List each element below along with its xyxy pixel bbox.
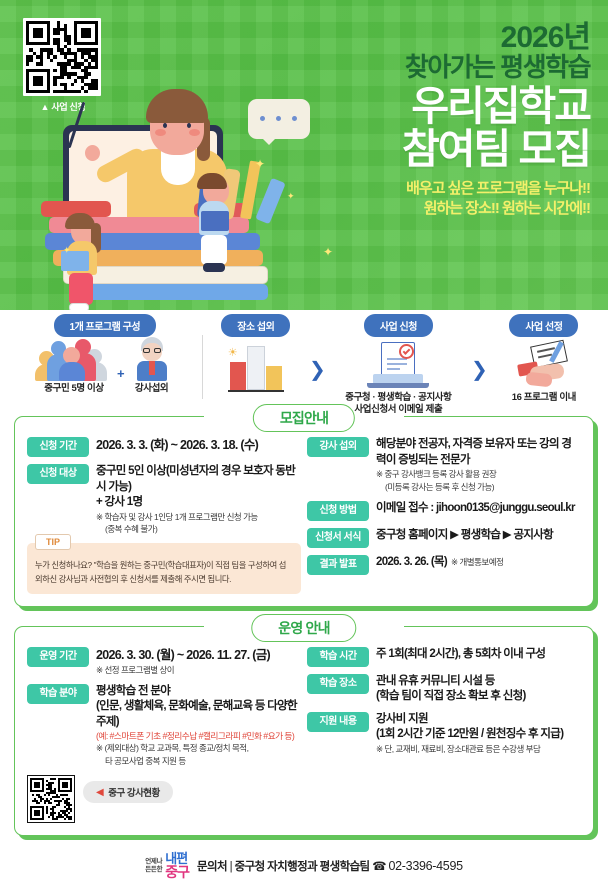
- kid-girl-reading: [67, 217, 97, 245]
- footer-contact: 문의처 | 중구청 자치행정과 평생학습팀 ☎ 02-3396-4595: [197, 858, 463, 874]
- instructor-status-button[interactable]: ◀ 중구 강사현황: [83, 781, 173, 803]
- teacher-hand: [85, 145, 100, 161]
- step-3-pill: 사업 신청: [364, 314, 433, 337]
- logo-small-line1: 언제나: [145, 858, 162, 866]
- operation-row-place: 학습 장소 관내 유휴 커뮤니티 시설 등 (학습 팀이 직접 장소 확보 후 …: [307, 674, 581, 705]
- qr-code-instructor-list[interactable]: [27, 775, 75, 823]
- chevron-icon-1: ❯: [309, 357, 326, 382]
- footer-phone[interactable]: 02-3396-4595: [389, 859, 463, 873]
- tip-text: 누가 신청하나요? "학습을 원하는 중구민(학습대표자)이 직접 팀을 구성하…: [35, 559, 293, 586]
- process-flow: 1개 프로그램 구성: [0, 310, 608, 410]
- left-arrow-icon: ◀: [96, 787, 103, 798]
- hero-subtitle: 찾아가는 평생학습: [290, 53, 590, 82]
- footer-separator: |: [230, 861, 232, 873]
- note-apply-target-2: (중복 수혜 불가): [96, 524, 301, 536]
- value-apply-period: 2026. 3. 3. (화) ~ 2026. 3. 18. (수): [96, 437, 301, 454]
- footer-contact-label: 문의처: [197, 861, 227, 873]
- hero-banner: ▲ 사업 신청: [0, 0, 608, 310]
- note-study-field-examples: (예: #스마트폰 기초 #정리수납 #캘리그라피 #민화 #요가 등): [96, 730, 301, 742]
- instructor-status-label: 중구 강사현황: [108, 785, 160, 799]
- step-2-pill: 장소 섭외: [221, 314, 290, 337]
- recruit-row-result: 결과 발표 2026. 3. 26. (목) ※ 개별통보예정: [307, 555, 581, 575]
- recruit-row-period: 신청 기간 2026. 3. 3. (화) ~ 2026. 3. 18. (수): [27, 437, 301, 457]
- operation-card: 운영 안내 운영 기간 2026. 3. 30. (월) ~ 2026. 11.…: [14, 626, 594, 836]
- handshake-icon: [516, 343, 572, 389]
- hero-tagline-1: 배우고 싶은 프로그램을 누구나!!: [290, 179, 590, 199]
- operation-row-support: 지원 내용 강사비 지원 (1회 2시간 기준 12만원 / 원천징수 후 지급…: [307, 712, 581, 756]
- hero-year: 2026년: [290, 22, 590, 54]
- recruit-row-form: 신청서 서식 중구청 홈페이지 ▶ 평생학습 ▶ 공지사항: [307, 528, 581, 548]
- hero-tagline: 배우고 싶은 프로그램을 누구나!! 원하는 장소!! 원하는 시간에!!: [290, 179, 590, 218]
- label-study-place: 학습 장소: [307, 674, 369, 694]
- people-group-icon: [37, 337, 111, 381]
- note-instructor-1: ※ 중구 강사뱅크 등록 강사 활용 권장: [376, 469, 581, 481]
- value-apply-method[interactable]: 이메일 접수 : jihoon0135@junggu.seoul.kr: [376, 501, 581, 517]
- recruit-card-title: 모집안내: [253, 404, 355, 432]
- process-step-2: 장소 섭외 ☀: [203, 314, 309, 390]
- label-apply-method: 신청 방법: [307, 501, 369, 521]
- hero-headings: 2026년 찾아가는 평생학습 우리집학교 참여팀 모집 배우고 싶은 프로그램…: [290, 22, 590, 218]
- buildings-icon: ☀: [228, 342, 284, 390]
- value-instructor: 해당분야 전공자, 자격증 보유자 또는 강의 경력이 증빙되는 전문가: [376, 437, 581, 468]
- operation-left-column: 운영 기간 2026. 3. 30. (월) ~ 2026. 11. 27. (…: [27, 647, 301, 823]
- value-operation-period: 2026. 3. 30. (월) ~ 2026. 11. 27. (금): [96, 647, 301, 664]
- process-step-1: 1개 프로그램 구성: [8, 314, 202, 390]
- value-apply-target: 중구민 5인 이상(미성년자의 경우 보호자 동반 시 가능) + 강사 1명: [96, 464, 301, 511]
- step-4-pill: 사업 선정: [509, 314, 578, 337]
- kid-boy-reading: [199, 177, 229, 205]
- step-4-caption: 16 프로그램 이내: [512, 392, 576, 404]
- value-study-field: 평생학습 전 분야 (인문, 생활체육, 문화예술, 문해교육 등 다양한 주제…: [96, 684, 301, 731]
- label-study-time: 학습 시간: [307, 647, 369, 667]
- hero-title-line2: 참여팀 모집: [290, 127, 590, 172]
- value-support-content: 강사비 지원 (1회 2시간 기준 12만원 / 원천징수 후 지급): [376, 712, 581, 743]
- tutor-icon: [131, 337, 173, 381]
- label-apply-form: 신청서 서식: [307, 528, 369, 548]
- value-result-announce: 2026. 3. 26. (목): [376, 555, 447, 571]
- logo-big-line2: 중구: [165, 866, 189, 879]
- footer-dept: 중구청 자치행정과 평생학습팀: [235, 861, 370, 873]
- process-step-3: 사업 신청 중구청 · 평생학습 · 공지사항 사업신청서 이메일 제출: [326, 314, 471, 416]
- operation-row-field: 학습 분야 평생학습 전 분야 (인문, 생활체육, 문화예술, 문해교육 등 …: [27, 684, 301, 769]
- value-study-time: 주 1회(최대 2시간), 총 5회차 이내 구성: [376, 647, 581, 663]
- label-study-field: 학습 분야: [27, 684, 89, 704]
- poster-root: ▲ 사업 신청: [0, 0, 608, 860]
- note-result-announce: ※ 개별통보예정: [451, 557, 503, 569]
- step-1-pill: 1개 프로그램 구성: [54, 314, 157, 337]
- phone-icon: ☎: [372, 861, 386, 873]
- recruit-left-column: 신청 기간 2026. 3. 3. (화) ~ 2026. 3. 18. (수)…: [27, 437, 301, 594]
- note-apply-target-1: ※ 학습자 및 강사 1인당 1개 프로그램만 신청 가능: [96, 512, 301, 524]
- application-document-icon: [367, 342, 429, 390]
- recruit-row-method: 신청 방법 이메일 접수 : jihoon0135@junggu.seoul.k…: [307, 501, 581, 521]
- label-apply-target: 신청 대상: [27, 464, 89, 484]
- note-operation-period: ※ 선정 프로그램별 상이: [96, 665, 301, 677]
- footer: 언제나 든든한 내편 중구 문의처 | 중구청 자치행정과 평생학습팀 ☎ 02…: [0, 844, 608, 888]
- label-result-announce: 결과 발표: [307, 555, 369, 575]
- operation-card-title: 운영 안내: [251, 614, 356, 642]
- hero-tagline-2: 원하는 장소!! 원하는 시간에!!: [290, 199, 590, 219]
- logo-small-line2: 든든한: [145, 866, 162, 874]
- chevron-icon-2: ❯: [471, 357, 488, 382]
- label-apply-period: 신청 기간: [27, 437, 89, 457]
- recruit-row-instructor: 강사 섭외 해당분야 전공자, 자격증 보유자 또는 강의 경력이 증빙되는 전…: [307, 437, 581, 494]
- operation-row-period: 운영 기간 2026. 3. 30. (월) ~ 2026. 11. 27. (…: [27, 647, 301, 677]
- teacher-hair: [146, 89, 208, 123]
- step-1-caption-a: 중구민 5명 이상: [44, 383, 103, 395]
- note-study-field-2: 타 공모사업 중복 지원 등: [96, 756, 301, 768]
- qr-code-apply[interactable]: [23, 18, 101, 96]
- label-operation-period: 운영 기간: [27, 647, 89, 667]
- operation-row-time: 학습 시간 주 1회(최대 2시간), 총 5회차 이내 구성: [307, 647, 581, 667]
- value-apply-form[interactable]: 중구청 홈페이지 ▶ 평생학습 ▶ 공지사항: [376, 528, 581, 544]
- recruit-row-target: 신청 대상 중구민 5인 이상(미성년자의 경우 보호자 동반 시 가능) + …: [27, 464, 301, 536]
- step-1-caption-b: 강사섭외: [135, 383, 168, 395]
- plus-icon: +: [117, 366, 125, 381]
- tip-tag: TIP: [35, 534, 71, 550]
- note-study-field-1: ※ (제외대상) 학교 교과목, 특정 종교/정치 목적,: [96, 743, 301, 755]
- tip-box: TIP 누가 신청하나요? "학습을 원하는 중구민(학습대표자)이 직접 팀을…: [27, 543, 301, 594]
- value-study-place: 관내 유휴 커뮤니티 시설 등 (학습 팀이 직접 장소 확보 후 신청): [376, 674, 581, 705]
- label-instructor: 강사 섭외: [307, 437, 369, 457]
- label-support-content: 지원 내용: [307, 712, 369, 732]
- pen-icon: [255, 178, 285, 224]
- hero-title-line1: 우리집학교: [290, 84, 590, 129]
- process-step-4: 사업 선정 16 프로그램 이내: [488, 314, 600, 404]
- note-instructor-2: (미등록 강사는 등록 후 신청 가능): [376, 482, 581, 494]
- operation-right-column: 학습 시간 주 1회(최대 2시간), 총 5회차 이내 구성 학습 장소 관내…: [307, 647, 581, 823]
- note-support-content: ※ 단, 교재비, 재료비, 장소대관료 등은 수강생 부담: [376, 744, 581, 756]
- recruit-card: 모집안내 신청 기간 2026. 3. 3. (화) ~ 2026. 3. 18…: [14, 416, 594, 607]
- recruit-right-column: 강사 섭외 해당분야 전공자, 자격증 보유자 또는 강의 경력이 증빙되는 전…: [307, 437, 581, 594]
- junggu-logo: 언제나 든든한 내편 중구: [145, 853, 189, 879]
